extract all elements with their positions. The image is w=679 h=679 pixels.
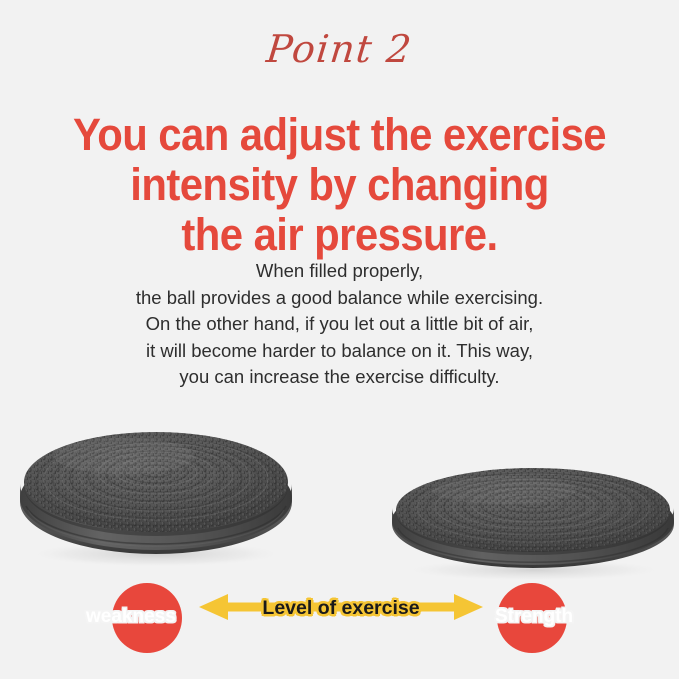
body-line-4: it will become harder to balance on it. … xyxy=(0,338,679,365)
headline-line-3: the air pressure. xyxy=(24,210,655,260)
body-line-2: the ball provides a good balance while e… xyxy=(0,285,679,312)
page-title: You can adjust the exercise intensity by… xyxy=(0,110,679,260)
balance-cushion-deflated-image xyxy=(386,460,676,582)
arrow-caption-label: Level of exercise xyxy=(196,595,486,621)
body-paragraph: When filled properly, the ball provides … xyxy=(0,258,679,391)
infographic-page: Point 2 You can adjust the exercise inte… xyxy=(0,0,679,679)
headline-line-1: You can adjust the exercise xyxy=(24,110,655,160)
balance-cushion-inflated-image xyxy=(14,420,296,570)
body-line-1: When filled properly, xyxy=(0,258,679,285)
exercise-level-scale: weakness Level of exercise Strength xyxy=(0,583,679,655)
weakness-label: weakness xyxy=(86,605,176,629)
eyebrow-point-label: Point 2 xyxy=(0,26,679,72)
body-line-5: you can increase the exercise difficulty… xyxy=(0,364,679,391)
body-line-3: On the other hand, if you let out a litt… xyxy=(0,311,679,338)
strength-label: Strength xyxy=(495,605,573,629)
headline-line-2: intensity by changing xyxy=(24,160,655,210)
level-of-exercise-arrow: Level of exercise xyxy=(196,588,486,648)
